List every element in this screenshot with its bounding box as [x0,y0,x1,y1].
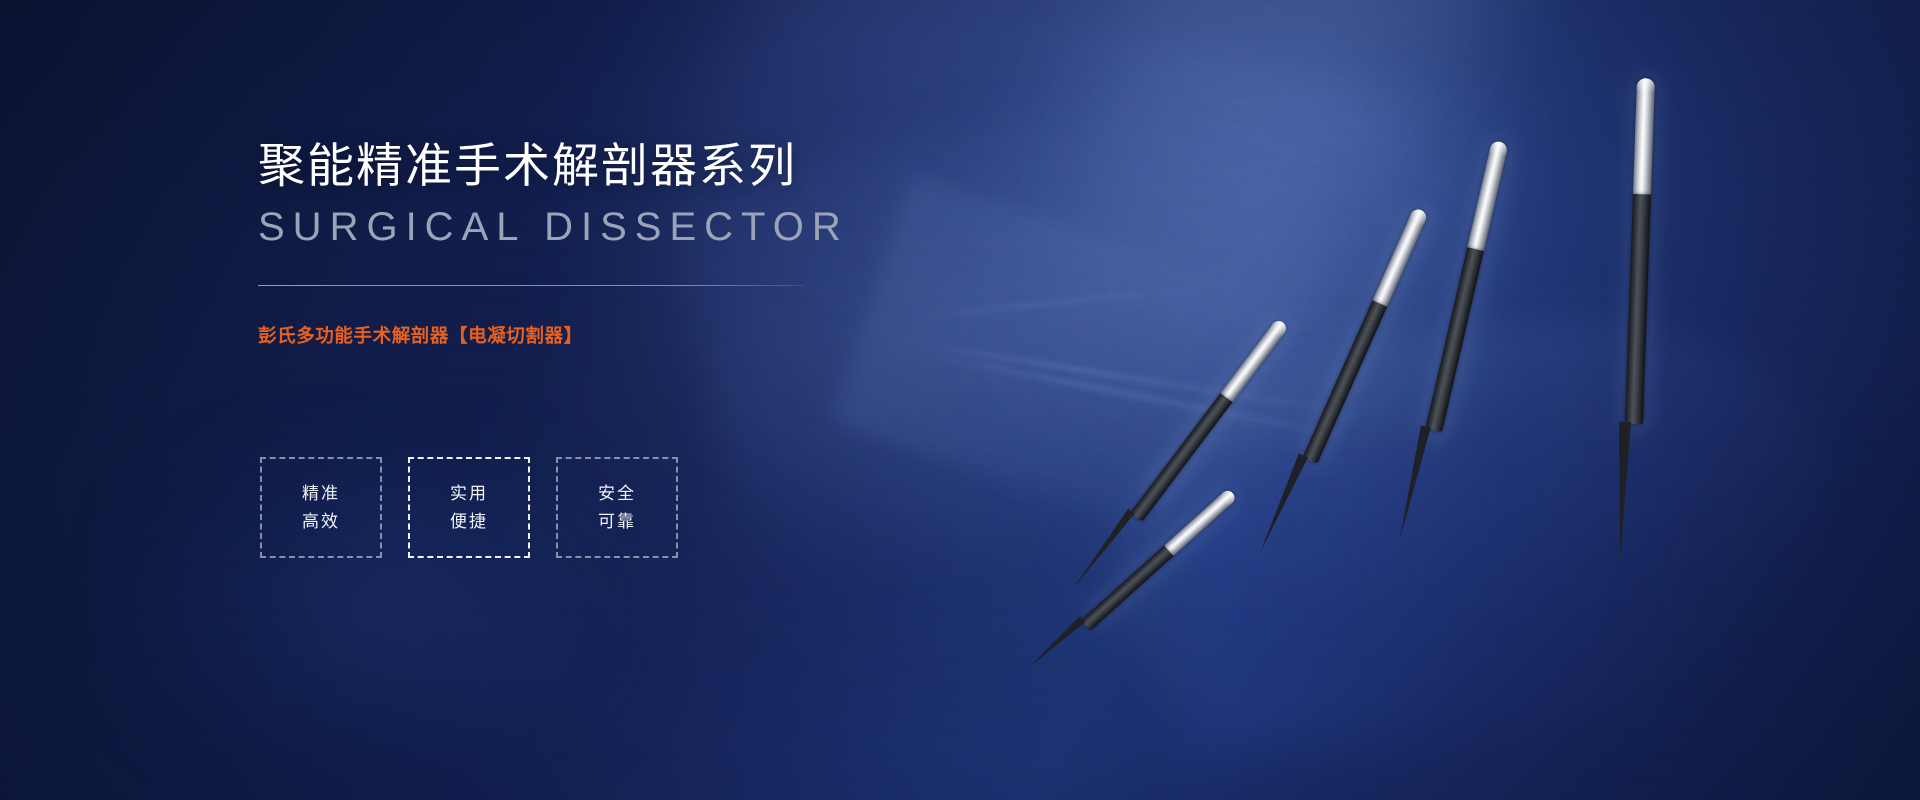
title-divider [258,285,804,286]
feature-box-group: 精准 高效 实用 便捷 安全 可靠 [260,457,678,558]
feature-box-3[interactable]: 安全 可靠 [556,457,678,558]
feature-box-3-line-2: 可靠 [598,513,636,530]
feature-box-3-line-1: 安全 [598,485,636,502]
feature-box-1[interactable]: 精准 高效 [260,457,382,558]
feature-box-2-line-1: 实用 [450,485,488,502]
feature-box-2-line-2: 便捷 [450,513,488,530]
hero-banner: 聚能精准手术解剖器系列 SURGICAL DISSECTOR 彭氏多功能手术解剖… [0,0,1920,800]
page-title: 聚能精准手术解剖器系列 [258,138,898,193]
feature-box-1-line-1: 精准 [302,485,340,502]
hero-text-block: 聚能精准手术解剖器系列 SURGICAL DISSECTOR 彭氏多功能手术解剖… [258,138,898,348]
feature-box-1-line-2: 高效 [302,513,340,530]
page-subtitle-en: SURGICAL DISSECTOR [258,205,898,249]
product-name-label: 彭氏多功能手术解剖器【电凝切割器】 [258,322,898,348]
feature-box-2[interactable]: 实用 便捷 [408,457,530,558]
